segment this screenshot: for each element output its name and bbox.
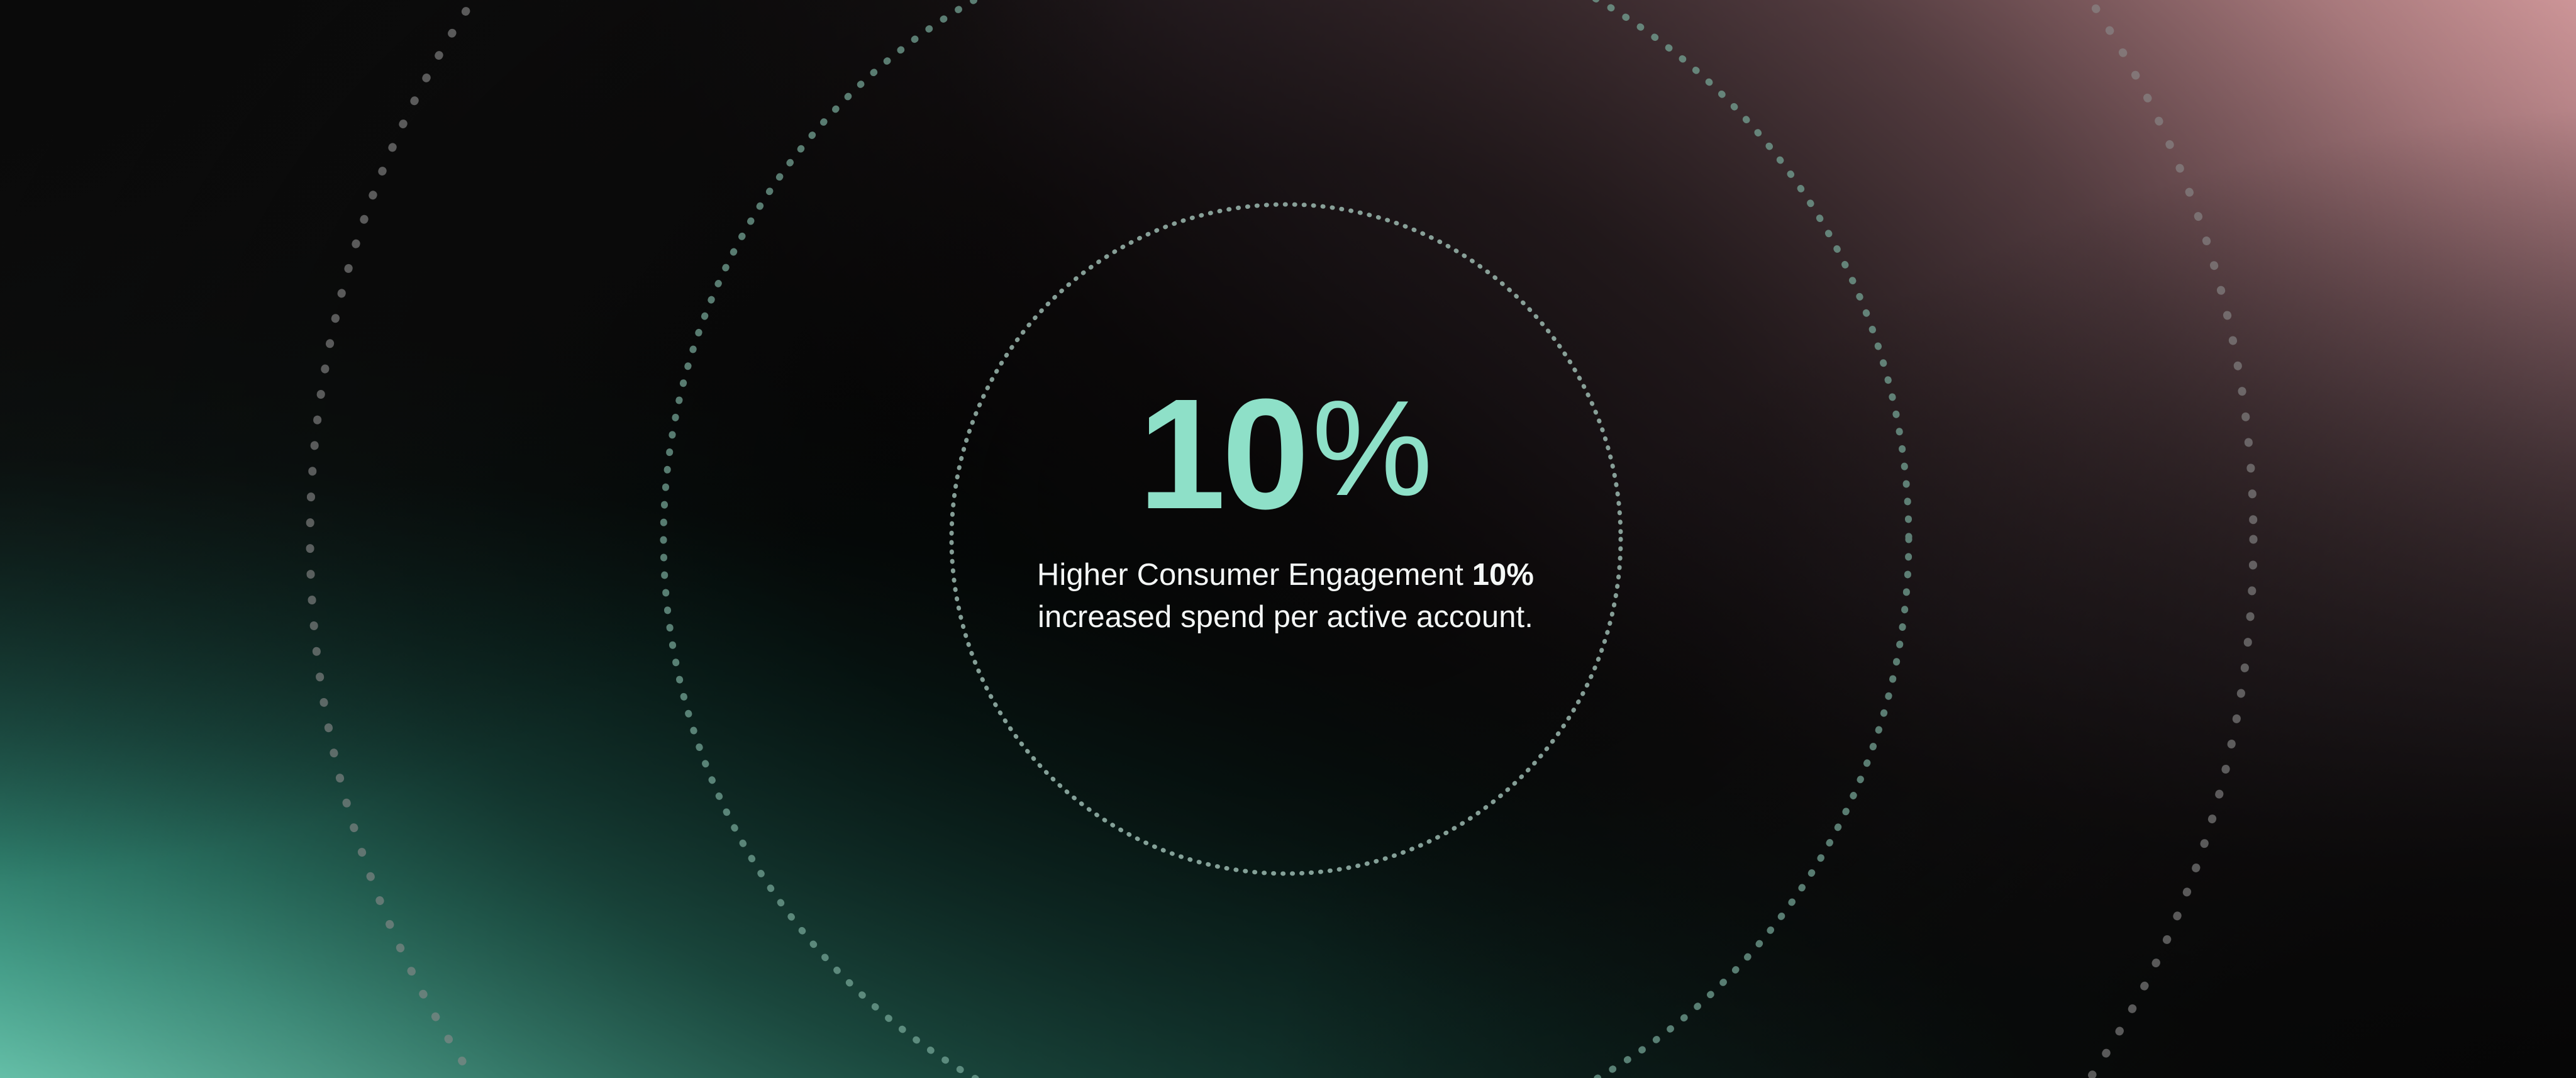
stat-value: 10 %	[1138, 382, 1433, 526]
caption-tail: increased spend per active account.	[1038, 600, 1533, 634]
caption-lead: Higher Consumer Engagement	[1037, 558, 1472, 592]
stat-block: 10 % Higher Consumer Engagement 10% incr…	[1034, 382, 1537, 669]
caption-highlight: 10%	[1472, 558, 1534, 592]
stat-percent-symbol: %	[1312, 386, 1433, 511]
stat-number: 10	[1138, 382, 1306, 526]
hero-content: 10 % Higher Consumer Engagement 10% incr…	[0, 0, 2576, 1078]
hero-banner: 10 % Higher Consumer Engagement 10% incr…	[0, 0, 2576, 1078]
stat-caption: Higher Consumer Engagement 10% increased…	[1034, 554, 1537, 638]
